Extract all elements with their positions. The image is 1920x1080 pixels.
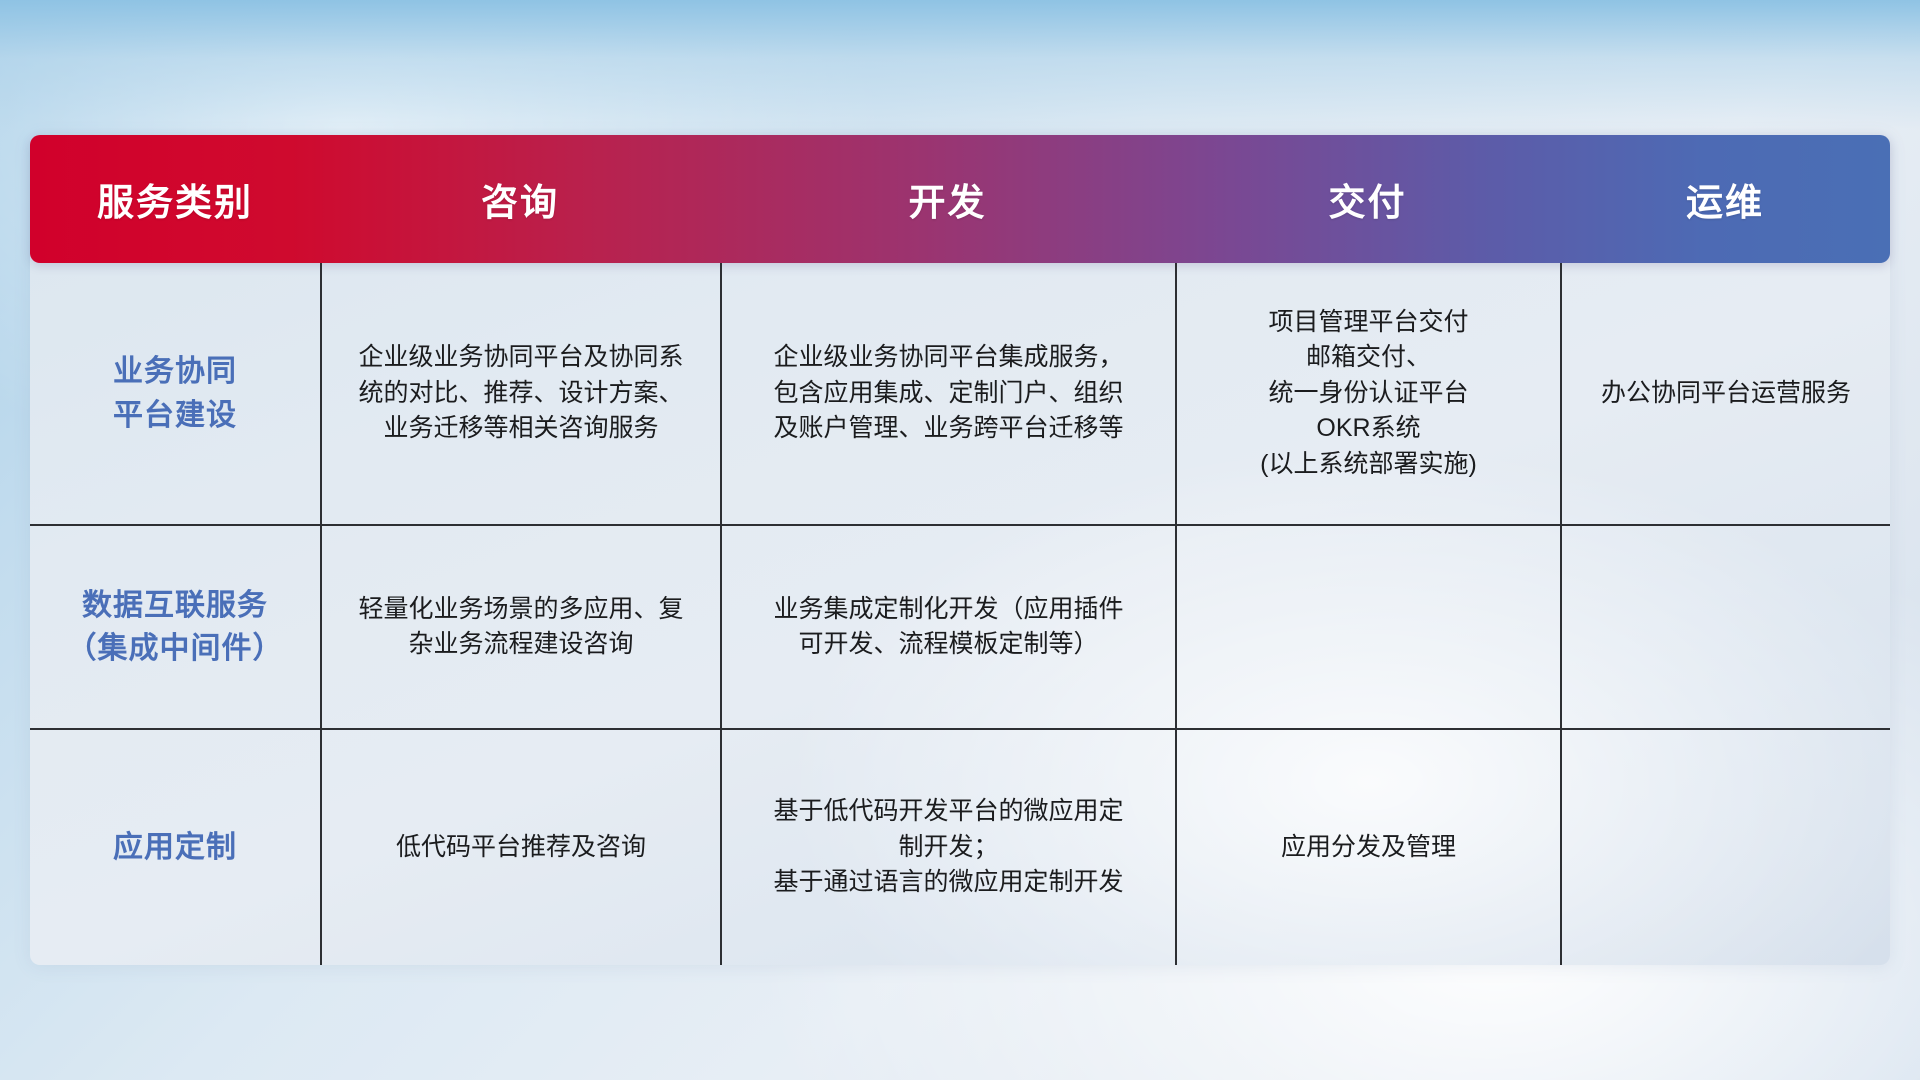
cell-text: 企业级业务协同平台集成服务， 包含应用集成、定制门户、组织 及账户管理、业务跨平… bbox=[773, 340, 1123, 447]
cell-development: 业务集成定制化开发（应用插件 可开发、流程模板定制等） bbox=[720, 526, 1175, 728]
row-label-cell: 数据互联服务 （集成中间件） bbox=[30, 526, 320, 728]
table-header-label: 服务类别 bbox=[97, 172, 253, 226]
table-header-row: 服务类别 咨询 开发 交付 运维 bbox=[30, 135, 1890, 263]
row-label: 业务协同 平台建设 bbox=[113, 350, 237, 437]
cell-consulting: 企业级业务协同平台及协同系 统的对比、推荐、设计方案、 业务迁移等相关咨询服务 bbox=[320, 263, 720, 524]
cell-text: 低代码平台推荐及咨询 bbox=[396, 830, 646, 866]
row-label: 应用定制 bbox=[113, 826, 237, 870]
cell-operations: 办公协同平台运营服务 bbox=[1560, 263, 1890, 524]
table-header-label: 运维 bbox=[1686, 172, 1764, 226]
cell-text: 轻量化业务场景的多应用、复 杂业务流程建设咨询 bbox=[358, 592, 683, 663]
table-header-label: 交付 bbox=[1329, 172, 1407, 226]
cell-text: 基于低代码开发平台的微应用定 制开发； 基于通过语言的微应用定制开发 bbox=[773, 794, 1123, 901]
cell-operations bbox=[1560, 730, 1890, 965]
table-row: 数据互联服务 （集成中间件） 轻量化业务场景的多应用、复 杂业务流程建设咨询 业… bbox=[30, 526, 1890, 730]
row-label: 数据互联服务 （集成中间件） bbox=[67, 584, 284, 671]
row-label-cell: 业务协同 平台建设 bbox=[30, 263, 320, 524]
row-label-cell: 应用定制 bbox=[30, 730, 320, 965]
cell-text: 业务集成定制化开发（应用插件 可开发、流程模板定制等） bbox=[773, 592, 1123, 663]
cell-delivery: 应用分发及管理 bbox=[1175, 730, 1560, 965]
table-header-service-category: 服务类别 bbox=[30, 135, 320, 263]
cell-delivery: 项目管理平台交付 邮箱交付、 统一身份认证平台 OKR系统 (以上系统部署实施) bbox=[1175, 263, 1560, 524]
cell-text: 办公协同平台运营服务 bbox=[1601, 376, 1851, 412]
table-header-operations: 运维 bbox=[1560, 135, 1890, 263]
cell-delivery bbox=[1175, 526, 1560, 728]
cell-consulting: 轻量化业务场景的多应用、复 杂业务流程建设咨询 bbox=[320, 526, 720, 728]
cell-development: 基于低代码开发平台的微应用定 制开发； 基于通过语言的微应用定制开发 bbox=[720, 730, 1175, 965]
table-header-label: 咨询 bbox=[481, 172, 559, 226]
table-header-development: 开发 bbox=[720, 135, 1175, 263]
table-header-consulting: 咨询 bbox=[320, 135, 720, 263]
cell-text: 企业级业务协同平台及协同系 统的对比、推荐、设计方案、 业务迁移等相关咨询服务 bbox=[358, 340, 683, 447]
service-matrix-table: 服务类别 咨询 开发 交付 运维 业务协同 平台建设 bbox=[30, 135, 1890, 965]
slide-canvas: 服务类别 咨询 开发 交付 运维 业务协同 平台建设 bbox=[0, 0, 1920, 1080]
cell-text: 项目管理平台交付 邮箱交付、 统一身份认证平台 OKR系统 (以上系统部署实施) bbox=[1260, 305, 1477, 483]
table-row: 应用定制 低代码平台推荐及咨询 基于低代码开发平台的微应用定 制开发； 基于通过… bbox=[30, 730, 1890, 965]
cell-operations bbox=[1560, 526, 1890, 728]
table-header-delivery: 交付 bbox=[1175, 135, 1560, 263]
cell-consulting: 低代码平台推荐及咨询 bbox=[320, 730, 720, 965]
cell-development: 企业级业务协同平台集成服务， 包含应用集成、定制门户、组织 及账户管理、业务跨平… bbox=[720, 263, 1175, 524]
cell-text: 应用分发及管理 bbox=[1281, 830, 1456, 866]
table-body: 业务协同 平台建设 企业级业务协同平台及协同系 统的对比、推荐、设计方案、 业务… bbox=[30, 263, 1890, 965]
table-header-label: 开发 bbox=[909, 172, 987, 226]
table-row: 业务协同 平台建设 企业级业务协同平台及协同系 统的对比、推荐、设计方案、 业务… bbox=[30, 263, 1890, 526]
